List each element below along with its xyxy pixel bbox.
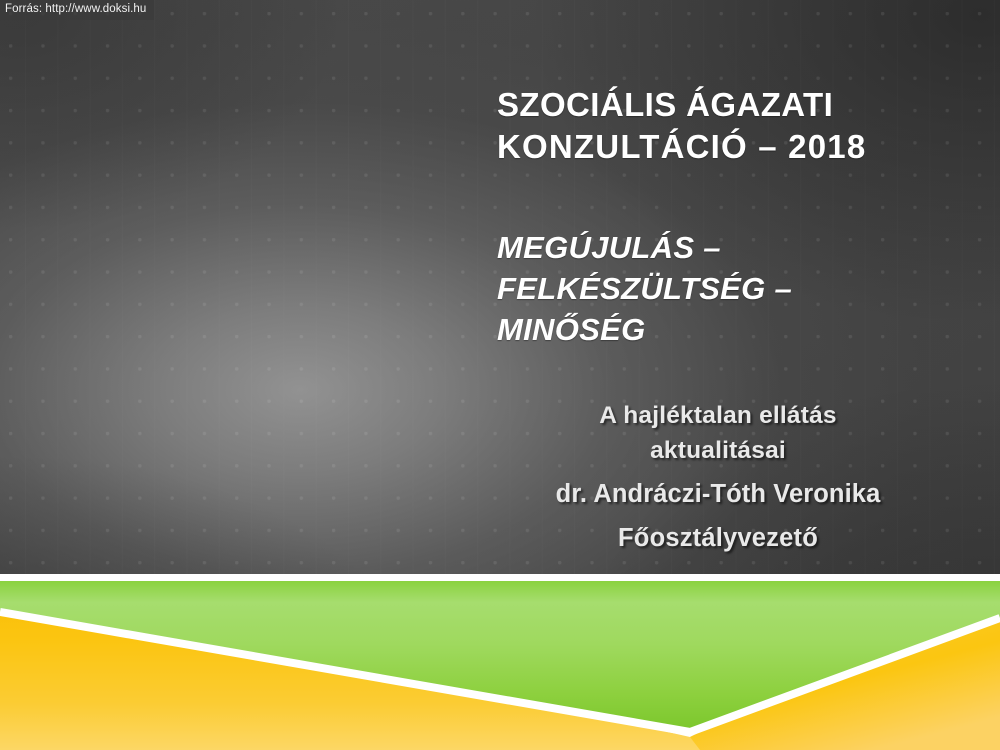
topic-line-1: A hajléktalan ellátás (497, 398, 939, 433)
subtitle-line-2: FELKÉSZÜLTSÉG – (497, 268, 937, 309)
presenter-block: A hajléktalan ellátás aktualitásai dr. A… (497, 398, 939, 556)
slide-subtitle: MEGÚJULÁS – FELKÉSZÜLTSÉG – MINŐSÉG (497, 227, 937, 350)
title-text-block: SZOCIÁLIS ÁGAZATI KONZULTÁCIÓ – 2018 MEG… (497, 84, 937, 350)
decoration-shapes (0, 574, 1000, 750)
slide-title: SZOCIÁLIS ÁGAZATI KONZULTÁCIÓ – 2018 (497, 84, 937, 168)
spacer (497, 468, 939, 477)
spacer (497, 512, 939, 521)
presenter-name: dr. Andráczi-Tóth Veronika (497, 477, 939, 512)
topic-line-2: aktualitásai (497, 433, 939, 468)
title-line-2: KONZULTÁCIÓ – 2018 (497, 126, 937, 168)
source-watermark: Forrás: http://www.doksi.hu (0, 0, 154, 20)
subtitle-line-1: MEGÚJULÁS – (497, 227, 937, 268)
title-line-1: SZOCIÁLIS ÁGAZATI (497, 84, 937, 126)
white-top-divider (0, 574, 1000, 581)
presentation-slide: Forrás: http://www.doksi.hu SZOCIÁLIS ÁG… (0, 0, 1000, 750)
presenter-role: Főosztályvezető (497, 521, 939, 556)
bottom-decoration (0, 574, 1000, 750)
subtitle-line-3: MINŐSÉG (497, 309, 937, 350)
